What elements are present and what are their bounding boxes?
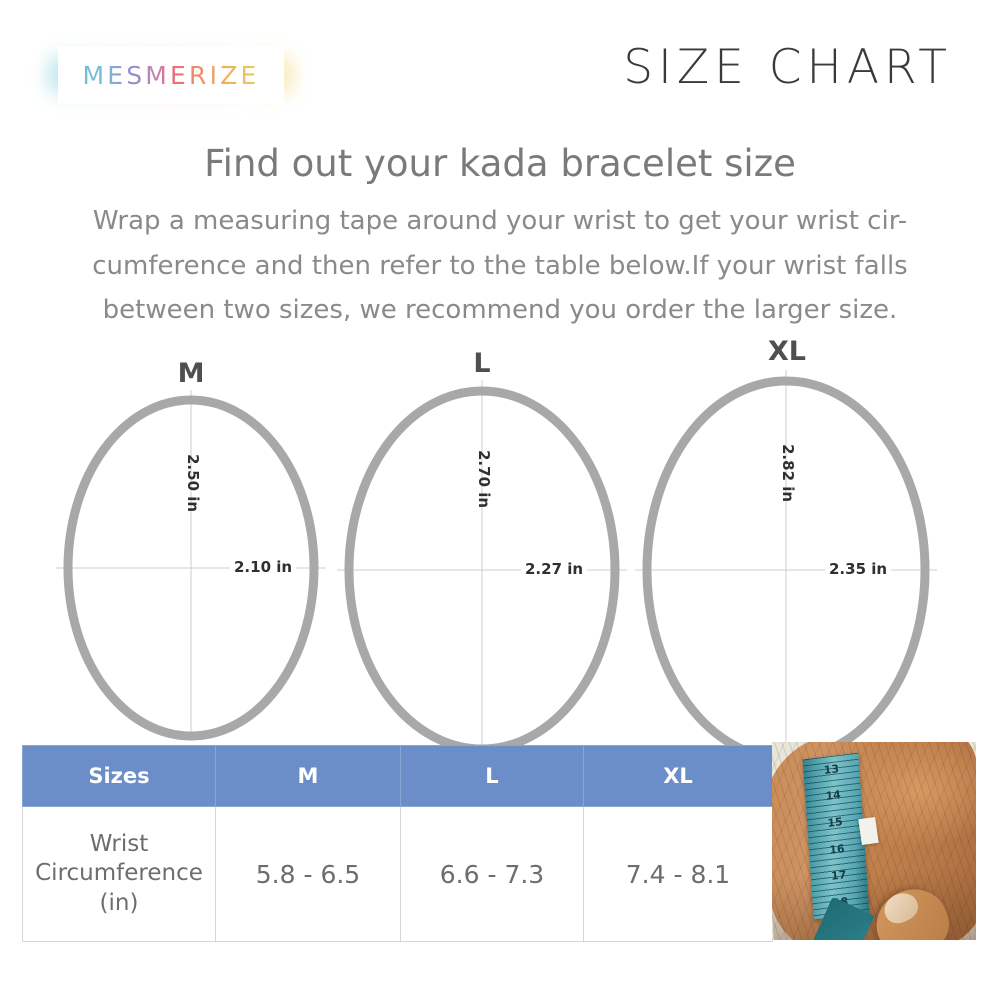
page-header: MESMERIZE SIZE CHART bbox=[0, 0, 1000, 130]
cell-wrist-m: 5.8 - 6.5 bbox=[216, 807, 401, 942]
diagram-xl: XL 2.82 in 2.35 in bbox=[635, 370, 937, 762]
photo-tape-end-tab bbox=[858, 817, 878, 845]
brand-name: MESMERIZE bbox=[82, 61, 259, 90]
intro-body: Wrap a measuring tape around your wrist … bbox=[42, 199, 958, 333]
cell-wrist-l: 6.6 - 7.3 bbox=[401, 807, 584, 942]
table-header-sizes: Sizes bbox=[23, 746, 216, 807]
row-label-wrist-circumference: Wrist Circumference (in) bbox=[23, 807, 216, 942]
diagram-xl-size-label: XL bbox=[754, 336, 820, 367]
tape-number: 15 bbox=[827, 815, 843, 830]
brand-logo: MESMERIZE bbox=[58, 46, 284, 104]
diagram-m-size-label: M bbox=[161, 358, 221, 389]
tape-number: 14 bbox=[825, 789, 841, 804]
table-header-m: M bbox=[216, 746, 401, 807]
photo-measuring-tape: 13 14 15 16 17 18 bbox=[803, 753, 870, 920]
tape-number: 13 bbox=[823, 762, 839, 777]
page-title: SIZE CHART bbox=[623, 40, 952, 95]
table-header-l: L bbox=[401, 746, 584, 807]
table-header-row: Sizes M L XL bbox=[23, 746, 773, 807]
diagram-xl-width: 2.35 in bbox=[825, 560, 891, 578]
diagram-l-width: 2.27 in bbox=[521, 560, 587, 578]
cell-wrist-xl: 7.4 - 8.1 bbox=[584, 807, 773, 942]
diagram-m-height: 2.50 in bbox=[184, 454, 202, 512]
intro-heading: Find out your kada bracelet size bbox=[0, 142, 1000, 185]
diagram-m-width: 2.10 in bbox=[230, 558, 296, 576]
wrist-measurement-photo: 13 14 15 16 17 18 bbox=[772, 742, 976, 940]
tape-number: 16 bbox=[829, 842, 845, 857]
logo-box: MESMERIZE bbox=[58, 46, 284, 104]
table-header-xl: XL bbox=[584, 746, 773, 807]
diagram-l-height: 2.70 in bbox=[475, 450, 493, 508]
photo-tape-numbers: 13 14 15 16 17 18 bbox=[803, 753, 870, 920]
diagram-xl-height: 2.82 in bbox=[779, 444, 797, 502]
bracelet-diagrams: M 2.50 in 2.10 in L 2.70 in 2.27 in XL 2… bbox=[0, 352, 1000, 742]
diagram-l: L 2.70 in 2.27 in bbox=[337, 380, 627, 752]
intro-section: Find out your kada bracelet size Wrap a … bbox=[0, 142, 1000, 333]
diagram-m: M 2.50 in 2.10 in bbox=[56, 390, 326, 740]
oval-xl-graphic bbox=[635, 370, 937, 762]
table-row: Wrist Circumference (in) 5.8 - 6.5 6.6 -… bbox=[23, 807, 773, 942]
diagram-l-size-label: L bbox=[452, 348, 512, 379]
size-table: Sizes M L XL Wrist Circumference (in) 5.… bbox=[22, 745, 773, 942]
tape-number: 17 bbox=[831, 868, 847, 883]
